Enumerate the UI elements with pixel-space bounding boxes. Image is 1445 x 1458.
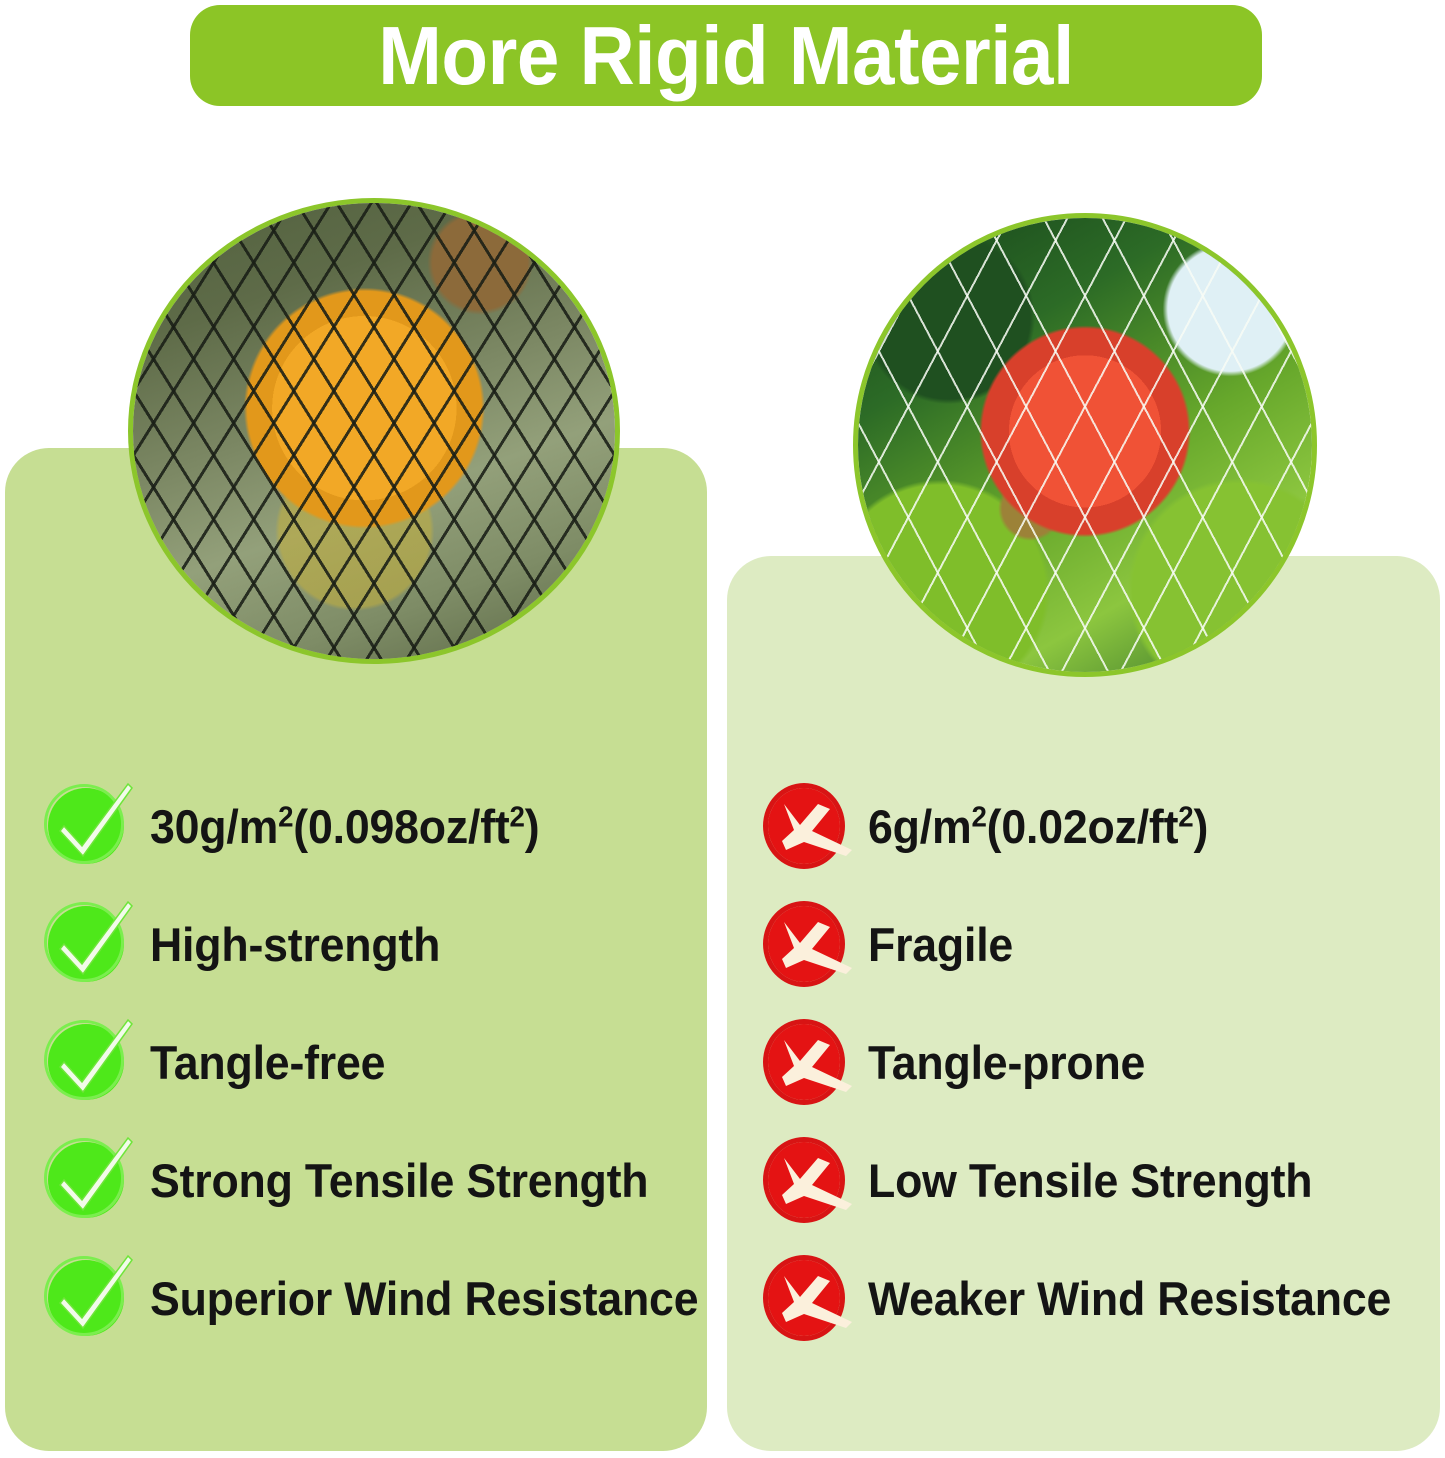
list-item-label: Tangle-free	[150, 1035, 385, 1090]
list-item: Fragile	[760, 885, 1435, 1003]
list-item-label: Superior Wind Resistance	[150, 1271, 698, 1326]
cross-icon	[760, 896, 856, 992]
cross-icon	[760, 1132, 856, 1228]
page-title: More Rigid Material	[378, 14, 1074, 97]
check-icon	[42, 1132, 138, 1228]
list-item: Superior Wind Resistance	[42, 1239, 702, 1357]
list-item-label: Fragile	[868, 917, 1013, 972]
cross-icon	[760, 1014, 856, 1110]
cross-icon	[760, 778, 856, 874]
pomegranate-under-netting-image	[858, 218, 1312, 672]
list-item: Weaker Wind Resistance	[760, 1239, 1435, 1357]
check-icon	[42, 896, 138, 992]
feature-list-left: 30g/m2(0.098oz/ft2) High-strength Tangle…	[42, 767, 702, 1357]
citrus-under-netting-image	[133, 203, 615, 659]
list-item: Tangle-free	[42, 1003, 702, 1121]
list-item-label: Low Tensile Strength	[868, 1153, 1312, 1208]
product-photo-left	[128, 198, 620, 664]
product-photo-right	[853, 213, 1317, 677]
cross-icon	[760, 1250, 856, 1346]
list-item: Low Tensile Strength	[760, 1121, 1435, 1239]
list-item: High-strength	[42, 885, 702, 1003]
list-item: 6g/m2(0.02oz/ft2)	[760, 767, 1435, 885]
feature-list-right: 6g/m2(0.02oz/ft2) Fragile Tangle-prone L…	[760, 767, 1435, 1357]
list-item-label: Tangle-prone	[868, 1035, 1145, 1090]
list-item-label: 30g/m2(0.098oz/ft2)	[150, 799, 539, 854]
check-icon	[42, 778, 138, 874]
check-icon	[42, 1014, 138, 1110]
list-item: Tangle-prone	[760, 1003, 1435, 1121]
list-item: 30g/m2(0.098oz/ft2)	[42, 767, 702, 885]
list-item-label: 6g/m2(0.02oz/ft2)	[868, 799, 1208, 854]
list-item-label: High-strength	[150, 917, 440, 972]
list-item-label: Strong Tensile Strength	[150, 1153, 648, 1208]
list-item-label: Weaker Wind Resistance	[868, 1271, 1391, 1326]
list-item: Strong Tensile Strength	[42, 1121, 702, 1239]
check-icon	[42, 1250, 138, 1346]
header-banner: More Rigid Material	[190, 5, 1262, 106]
